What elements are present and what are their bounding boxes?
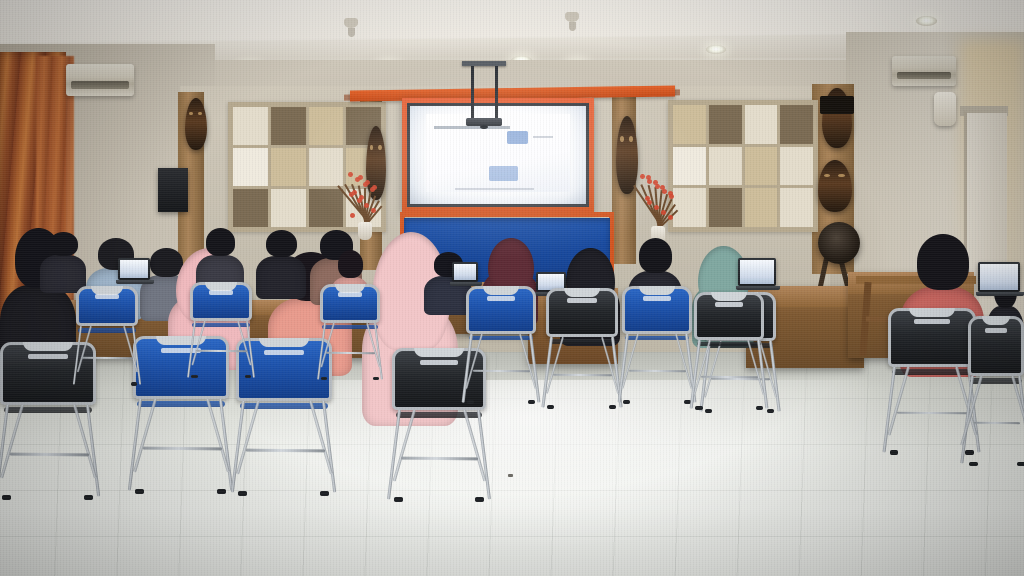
chair-foot-right — [756, 406, 763, 410]
chair-cross-brace — [897, 411, 969, 414]
flower-blossom — [646, 175, 651, 180]
ceiling-mount-right — [565, 12, 579, 22]
chair-seat[interactable] — [549, 339, 615, 344]
chair-emblem — [715, 302, 743, 307]
acoustic-panel-cell — [673, 188, 706, 227]
acoustic-panel-cell — [745, 188, 778, 227]
chair-cross-brace — [143, 447, 222, 450]
chair-backrest[interactable] — [320, 284, 380, 323]
chair-foot-right — [217, 489, 226, 494]
chair-foot-left — [321, 377, 327, 381]
chair-foot-left — [135, 489, 144, 494]
chair-emblem — [209, 290, 234, 295]
chair-backrest[interactable] — [968, 316, 1024, 376]
chair-emblem — [264, 350, 304, 355]
chair-backrest[interactable] — [190, 282, 252, 321]
chair-emblem — [420, 360, 459, 365]
person-dark-rear-center-2 — [256, 230, 306, 298]
chair-seat[interactable] — [4, 407, 92, 413]
chair-black-right-2[interactable] — [968, 316, 1024, 476]
chair-foot-right — [1017, 462, 1024, 467]
wall-speaker-left — [158, 168, 188, 212]
acoustic-panel-cell — [780, 147, 813, 186]
mask-band-right-pillar — [820, 96, 854, 114]
slide-footer-rule — [455, 188, 534, 190]
flower-blossom — [668, 191, 673, 196]
chair-back-notch — [909, 308, 955, 317]
acoustic-panel-cell — [745, 147, 778, 186]
chair-seat[interactable] — [240, 403, 328, 409]
acoustic-panel-cell — [309, 148, 344, 186]
chair-cross-brace — [974, 422, 1020, 425]
downlight-8 — [916, 16, 937, 26]
flower-blossom — [365, 180, 370, 185]
chair-emblem — [487, 296, 515, 301]
flower-blossom — [661, 210, 666, 215]
person-torso — [256, 256, 306, 300]
chair-blue-mid-1[interactable] — [466, 286, 536, 411]
chair-foot-left — [623, 400, 630, 404]
flower-blossom — [359, 195, 364, 200]
chair-cross-brace — [401, 457, 478, 460]
flower-arrangement-left — [348, 168, 382, 238]
chair-foot-right — [84, 495, 93, 500]
chair-cross-brace — [629, 369, 686, 372]
air-conditioner-left — [66, 64, 134, 96]
chair-seat[interactable] — [396, 412, 482, 418]
person-hair — [266, 230, 297, 257]
acoustic-panel-cell — [780, 105, 813, 144]
acoustic-panel-cell — [271, 189, 306, 227]
chair-foot-right — [609, 405, 616, 409]
flower-blossom — [358, 175, 363, 180]
chair-foot-left — [890, 450, 899, 455]
chair-backrest[interactable] — [888, 308, 976, 367]
acoustic-panel-cell — [780, 188, 813, 227]
chair-seat[interactable] — [892, 369, 973, 375]
mask-eye — [378, 145, 382, 150]
acoustic-panel-block-right — [668, 100, 818, 232]
chair-foot-right — [373, 377, 379, 381]
chair-seat[interactable] — [192, 323, 249, 327]
laptop-display — [740, 260, 774, 284]
flower-blossom — [372, 185, 377, 190]
chair-emblem — [914, 319, 950, 324]
laptop-far-right[interactable] — [978, 262, 1020, 292]
laptop-keyboard-base[interactable] — [976, 292, 1024, 296]
chair-emblem — [985, 328, 1007, 333]
chair-foot-right — [528, 400, 535, 404]
acoustic-panel-cell — [709, 105, 742, 144]
chair-back-notch — [259, 338, 309, 347]
chair-foot-left — [191, 375, 197, 379]
floor-debris — [508, 474, 513, 477]
acoustic-panel-cell — [709, 147, 742, 186]
laptop-mid-left[interactable] — [452, 262, 478, 282]
floor-speaker-on-stand — [818, 222, 860, 264]
laptop-keyboard-base[interactable] — [736, 286, 780, 290]
slide-logo-mark — [507, 131, 529, 144]
projection-screen-frame — [402, 98, 594, 212]
laptop-keyboard-base[interactable] — [116, 280, 154, 284]
air-conditioner-right — [892, 56, 956, 86]
chair-backrest[interactable] — [546, 288, 618, 337]
chair-foot-right — [475, 497, 484, 502]
chair-cross-brace — [473, 369, 530, 372]
acoustic-panel-cell — [309, 189, 344, 227]
flower-blossom — [371, 208, 376, 213]
chair-cross-brace — [701, 375, 758, 378]
laptop-display — [980, 264, 1018, 290]
acoustic-panel-cell — [309, 107, 344, 145]
chair-backrest[interactable] — [694, 292, 764, 340]
wall-lamp-right — [934, 92, 956, 126]
acoustic-panel-cell — [233, 189, 268, 227]
projector-rod-right — [495, 66, 498, 120]
acoustic-panel-cell — [673, 147, 706, 186]
laptop-display — [454, 264, 476, 280]
person-hair — [639, 238, 672, 273]
chair-foot-right — [767, 409, 774, 413]
chair-foot-left — [77, 382, 83, 386]
chair-back-notch — [564, 288, 601, 297]
laptop-display — [120, 260, 148, 278]
projector-rod-left — [471, 66, 474, 120]
chair-foot-right — [320, 491, 329, 496]
downlight-6 — [706, 45, 726, 54]
person-hair — [338, 250, 363, 278]
acoustic-panel-cell — [233, 107, 268, 145]
chair-back-notch — [23, 342, 73, 351]
mask-eye — [838, 174, 844, 178]
chair-foot-right — [245, 375, 251, 379]
chair-emblem — [338, 292, 362, 297]
chair-foot-left — [467, 400, 474, 404]
slide-image-block — [489, 166, 518, 182]
slide-title-rule — [434, 126, 509, 129]
chair-foot-right — [131, 382, 137, 386]
person-hijab — [488, 238, 534, 291]
chair-foot-left — [2, 495, 11, 500]
flower-blossom — [640, 174, 645, 179]
acoustic-panel-cell — [709, 188, 742, 227]
mask-eye — [629, 136, 633, 141]
chair-back-notch — [639, 286, 675, 295]
mask-eye — [189, 112, 193, 116]
person-hair — [206, 228, 236, 256]
acoustic-panel-cell — [271, 148, 306, 186]
chair-foot-left — [238, 491, 247, 496]
chair-emblem — [95, 294, 120, 299]
chair-black-mid-2[interactable] — [546, 288, 618, 417]
chair-backrest[interactable] — [466, 286, 536, 334]
chair-blue-mid-2[interactable] — [622, 286, 692, 411]
chair-black-right-3[interactable] — [694, 292, 764, 417]
flower-blossom — [352, 190, 357, 195]
flower-blossom — [654, 205, 659, 210]
mask-eye — [370, 145, 374, 150]
acoustic-panel-cell — [271, 107, 306, 145]
flower-blossom — [348, 172, 353, 177]
chair-foot-left — [547, 405, 554, 409]
chair-seat[interactable] — [137, 401, 225, 407]
acoustic-panel-cell — [233, 148, 268, 186]
chair-blue-left-rear[interactable] — [76, 286, 138, 392]
chair-cross-brace — [553, 374, 612, 377]
chair-backrest[interactable] — [76, 286, 138, 326]
chair-back-notch — [483, 286, 519, 295]
person-hair — [49, 232, 78, 256]
laptop-right-desk[interactable] — [738, 258, 776, 286]
flower-blossom — [668, 215, 673, 220]
chair-cross-brace — [246, 449, 325, 452]
seminar-room-photo — [0, 0, 1024, 576]
flower-blossom — [364, 203, 369, 208]
laptop-front-left[interactable] — [118, 258, 150, 280]
ceiling-mount-left — [344, 18, 358, 28]
person-rear-left-dark — [40, 232, 86, 292]
chair-emblem — [567, 298, 596, 303]
chair-back-notch — [711, 292, 747, 301]
flower-blossom — [350, 213, 355, 218]
flower-arrangement-right — [640, 170, 676, 242]
acoustic-panel-cell — [673, 105, 706, 144]
mask-eye — [824, 174, 830, 178]
chair-emblem — [28, 354, 68, 359]
chair-back-notch — [414, 348, 463, 357]
chair-foot-left — [695, 406, 702, 410]
projector-lens — [480, 125, 488, 129]
chair-back-notch — [982, 316, 1010, 325]
chair-blue-left-rear2[interactable] — [190, 282, 252, 385]
chair-foot-left — [969, 462, 978, 467]
chair-cross-brace — [196, 350, 247, 352]
acoustic-panel-cell — [745, 105, 778, 144]
chair-cross-brace — [326, 352, 375, 354]
chair-foot-left — [394, 497, 403, 502]
chair-backrest[interactable] — [622, 286, 692, 334]
slide-side-rule — [533, 136, 553, 138]
chair-cross-brace — [82, 357, 133, 359]
projector-mount-plate — [462, 61, 506, 66]
mask-eye — [620, 136, 624, 141]
person-hair — [917, 234, 969, 290]
chair-blue-left-rear3[interactable] — [320, 284, 380, 387]
chair-emblem — [643, 296, 671, 301]
mask-eye — [198, 112, 202, 116]
flower-blossom — [645, 196, 650, 201]
chair-cross-brace — [10, 453, 89, 456]
